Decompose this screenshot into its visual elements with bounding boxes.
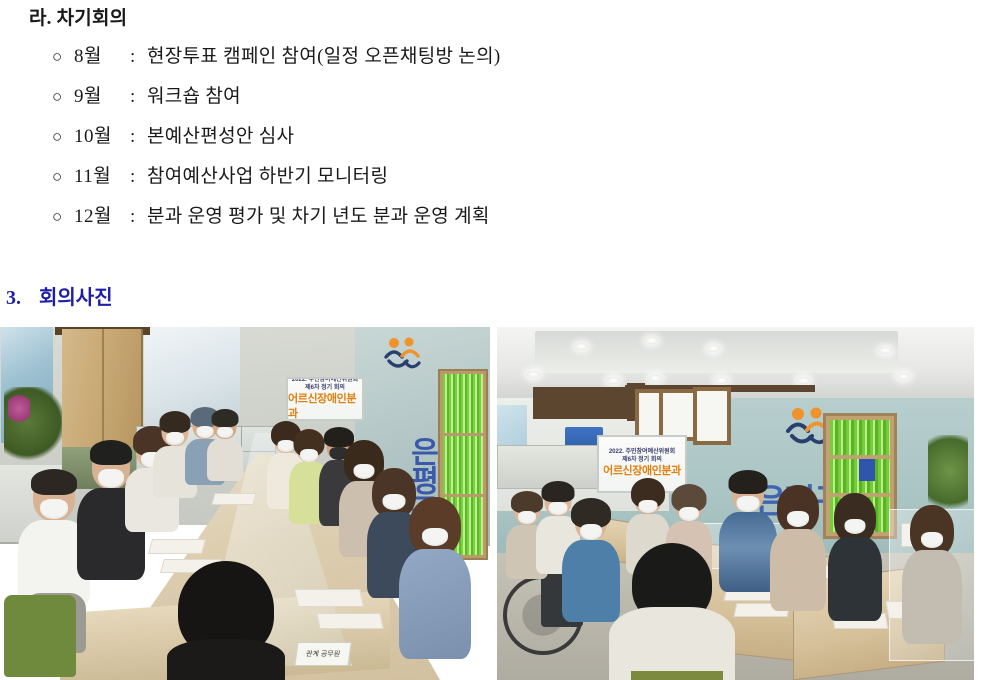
person-hair (542, 481, 575, 502)
meeting-photo-left: 은평구 2022. 주민참여예산위원회 제6차 정기 회의 어르신장애인분과 (0, 327, 490, 680)
face-mask (518, 511, 536, 524)
ceiling-cove (535, 331, 898, 373)
downlight (649, 375, 662, 382)
meeting-banner: 2022. 주민참여예산위원회 제6차 정기 회의 어르신장애인분과 (286, 377, 364, 421)
shelf-label (859, 459, 875, 481)
banner-line-1: 2022. 주민참여예산위원회 (292, 377, 358, 385)
person-shoulders (609, 607, 735, 680)
face-mask (580, 524, 602, 540)
downlight (797, 377, 810, 384)
list-item-month: 8월 (74, 41, 130, 68)
paper-stack (316, 613, 383, 629)
person (398, 503, 472, 679)
face-mask (217, 427, 233, 438)
person-shoulders (167, 639, 285, 680)
meeting-photo-strip: 은평구 2022. 주민참여예산위원회 제6차 정기 회의 어르신장애인분과 (0, 327, 992, 680)
bullet-circle-icon: ○ (52, 128, 74, 145)
next-meeting-schedule-list: ○ 8월 : 현장투표 캠페인 참여(일정 오픈채팅방 논의) ○ 9월 : 워… (52, 41, 952, 241)
list-item: ○ 11월 : 참여예산사업 하반기 모니터링 (52, 161, 952, 201)
section-a-heading: 라. 차기회의 (29, 3, 127, 30)
person-foreground (607, 543, 737, 680)
office-chair (4, 595, 76, 677)
downlight (527, 371, 540, 378)
person-foreground (166, 561, 286, 680)
face-mask (422, 528, 448, 546)
banner-line-2: 제6차 정기 회의 (305, 385, 345, 393)
person-torso (770, 529, 826, 611)
list-item-colon: : (130, 126, 147, 148)
shelf-row (830, 420, 890, 455)
paper-stack (294, 589, 364, 607)
face-mask (737, 496, 760, 512)
photo-left-scene: 은평구 2022. 주민참여예산위원회 제6차 정기 회의 어르신장애인분과 (0, 327, 490, 680)
downlight (645, 337, 658, 344)
list-item-colon: : (130, 86, 147, 108)
ceiling-beam (533, 387, 633, 419)
shelf-row (443, 374, 483, 432)
list-item-colon: : (130, 206, 147, 228)
person-hair (324, 427, 354, 447)
list-item: ○ 8월 : 현장투표 캠페인 참여(일정 오픈채팅방 논의) (52, 41, 952, 81)
person-hair (31, 469, 77, 495)
eunpyeong-people-logo (378, 335, 426, 375)
person-torso (828, 537, 882, 621)
list-item: ○ 12월 : 분과 운영 평가 및 차기 년도 분과 운영 계획 (52, 201, 952, 241)
downlight (715, 377, 728, 384)
list-item: ○ 9월 : 워크숍 참여 (52, 81, 952, 121)
face-mask (679, 507, 699, 521)
person-torso (902, 550, 962, 644)
list-item-text: 현장투표 캠페인 참여(일정 오픈채팅방 논의) (147, 41, 501, 68)
face-mask (921, 532, 943, 548)
list-item-month: 9월 (74, 81, 130, 108)
photo-right-scene: 은평구 2022. 주민참여예산위원회 제6차 정기 회의 어르신장애인분과 (497, 327, 974, 680)
shelf-row (443, 436, 483, 494)
list-item-text: 참여예산사업 하반기 모니터링 (147, 161, 388, 188)
face-mask (98, 469, 124, 488)
bullet-circle-icon: ○ (52, 208, 74, 225)
list-item: ○ 10월 : 본예산편성안 심사 (52, 121, 952, 161)
list-item-month: 12월 (74, 201, 130, 228)
person-lower (631, 671, 723, 680)
bullet-circle-icon: ○ (52, 168, 74, 185)
face-mask (845, 519, 866, 534)
list-item-text: 워크숍 참여 (147, 81, 241, 108)
downlight (707, 345, 720, 352)
bullet-circle-icon: ○ (52, 48, 74, 65)
list-item-month: 11월 (74, 161, 130, 188)
person (901, 511, 963, 661)
whiteboard (693, 387, 731, 445)
downlight (897, 373, 910, 380)
bullet-circle-icon: ○ (52, 88, 74, 105)
person-torso (207, 439, 243, 481)
list-item-colon: : (130, 46, 147, 68)
person-hair (212, 409, 239, 427)
banner-line-3: 어르신장애인분과 (288, 392, 362, 421)
person-torso (399, 549, 471, 659)
downlight (879, 347, 892, 354)
banner-line-2: 제6차 정기 회의 (622, 457, 662, 465)
person-hair (409, 497, 461, 557)
list-item-text: 분과 운영 평가 및 차기 년도 분과 운영 계획 (147, 201, 490, 228)
face-mask (40, 499, 68, 519)
person-hair (729, 470, 768, 494)
meeting-photo-right: 은평구 2022. 주민참여예산위원회 제6차 정기 회의 어르신장애인분과 (497, 327, 974, 680)
person (827, 499, 883, 639)
person (769, 491, 827, 627)
banner-line-1: 2022. 주민참여예산위원회 (609, 449, 675, 457)
person-hair (834, 493, 876, 543)
list-item-colon: : (130, 166, 147, 188)
list-item-month: 10월 (74, 121, 130, 148)
name-placard: 관계 공무원 (294, 642, 351, 666)
section-3-heading: 3.회의사진 (6, 281, 113, 310)
banner-line-3: 어르신장애인분과 (603, 464, 681, 478)
person (206, 413, 244, 489)
face-mask (639, 500, 658, 513)
downlight (575, 343, 588, 350)
orchid-flower (8, 391, 30, 426)
face-mask (300, 449, 318, 462)
downlight (607, 377, 620, 384)
section-3-title: 회의사진 (39, 287, 113, 309)
list-item-text: 본예산편성안 심사 (147, 121, 294, 148)
face-mask (787, 511, 809, 527)
face-mask (166, 432, 184, 445)
section-3-number: 3. (6, 287, 21, 309)
